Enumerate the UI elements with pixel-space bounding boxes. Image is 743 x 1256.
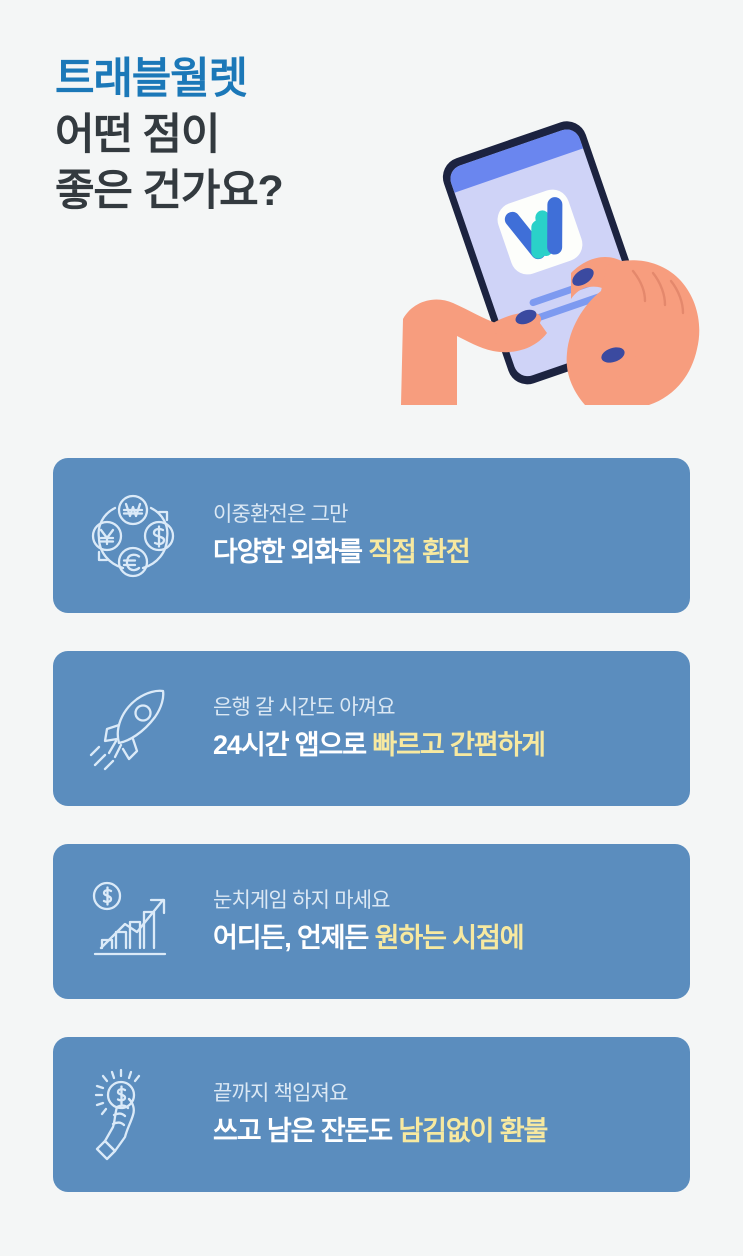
card-title: 다양한 외화를 직접 환전 — [213, 536, 672, 570]
card-title: 24시간 앱으로 빠르고 간편하게 — [213, 729, 672, 763]
feature-card-growth-chart[interactable]: 눈치게임 하지 마세요 어디든, 언제든 원하는 시점에 — [53, 844, 690, 999]
growth-chart-icon — [53, 872, 213, 972]
feature-card-refund[interactable]: 끝까지 책임져요 쓰고 남은 잔돈도 남김없이 환불 — [53, 1037, 690, 1192]
feature-card-rocket[interactable]: 은행 갈 시간도 아껴요 24시간 앱으로 빠르고 간편하게 — [53, 651, 690, 806]
card-subtitle: 이중환전은 그만 — [213, 501, 672, 528]
card-subtitle: 눈치게임 하지 마세요 — [213, 887, 672, 914]
card-text-block: 이중환전은 그만 다양한 외화를 직접 환전 — [213, 501, 690, 569]
card-text-block: 끝까지 책임져요 쓰고 남은 잔돈도 남김없이 환불 — [213, 1080, 690, 1148]
card-title: 쓰고 남은 잔돈도 남김없이 환불 — [213, 1115, 672, 1149]
card-subtitle: 은행 갈 시간도 아껴요 — [213, 694, 672, 721]
hero-brand-line: 트래블월렛 — [55, 52, 435, 108]
hands-holding-phone-illustration — [395, 105, 705, 425]
card-title-highlight: 남김없이 환불 — [398, 1116, 547, 1146]
card-title-highlight: 직접 환전 — [368, 537, 469, 567]
hero-heading: 트래블월렛 어떤 점이 좋은 건가요? — [55, 52, 435, 220]
rocket-icon — [53, 679, 213, 779]
card-text-block: 은행 갈 시간도 아껴요 24시간 앱으로 빠르고 간편하게 — [213, 694, 690, 762]
card-title-plain: 24시간 앱으로 — [213, 730, 372, 760]
hero-question-line-1: 어떤 점이 — [55, 108, 435, 164]
card-subtitle: 끝까지 책임져요 — [213, 1080, 672, 1107]
feature-card-list: 이중환전은 그만 다양한 외화를 직접 환전 — [53, 458, 690, 1192]
card-title-plain: 어디든, 언제든 — [213, 923, 375, 953]
card-text-block: 눈치게임 하지 마세요 어디든, 언제든 원하는 시점에 — [213, 887, 690, 955]
card-title: 어디든, 언제든 원하는 시점에 — [213, 922, 672, 956]
feature-card-currency-exchange[interactable]: 이중환전은 그만 다양한 외화를 직접 환전 — [53, 458, 690, 613]
hero-question-line-2: 좋은 건가요? — [55, 164, 435, 220]
card-title-highlight: 빠르고 간편하게 — [372, 730, 545, 760]
card-title-plain: 쓰고 남은 잔돈도 — [213, 1116, 398, 1146]
hand-holding-coin-icon — [53, 1065, 213, 1165]
card-title-highlight: 원하는 시점에 — [375, 923, 524, 953]
promo-page: 트래블월렛 어떤 점이 좋은 건가요? — [0, 0, 743, 1256]
card-title-plain: 다양한 외화를 — [213, 537, 368, 567]
currency-exchange-icon — [53, 486, 213, 586]
